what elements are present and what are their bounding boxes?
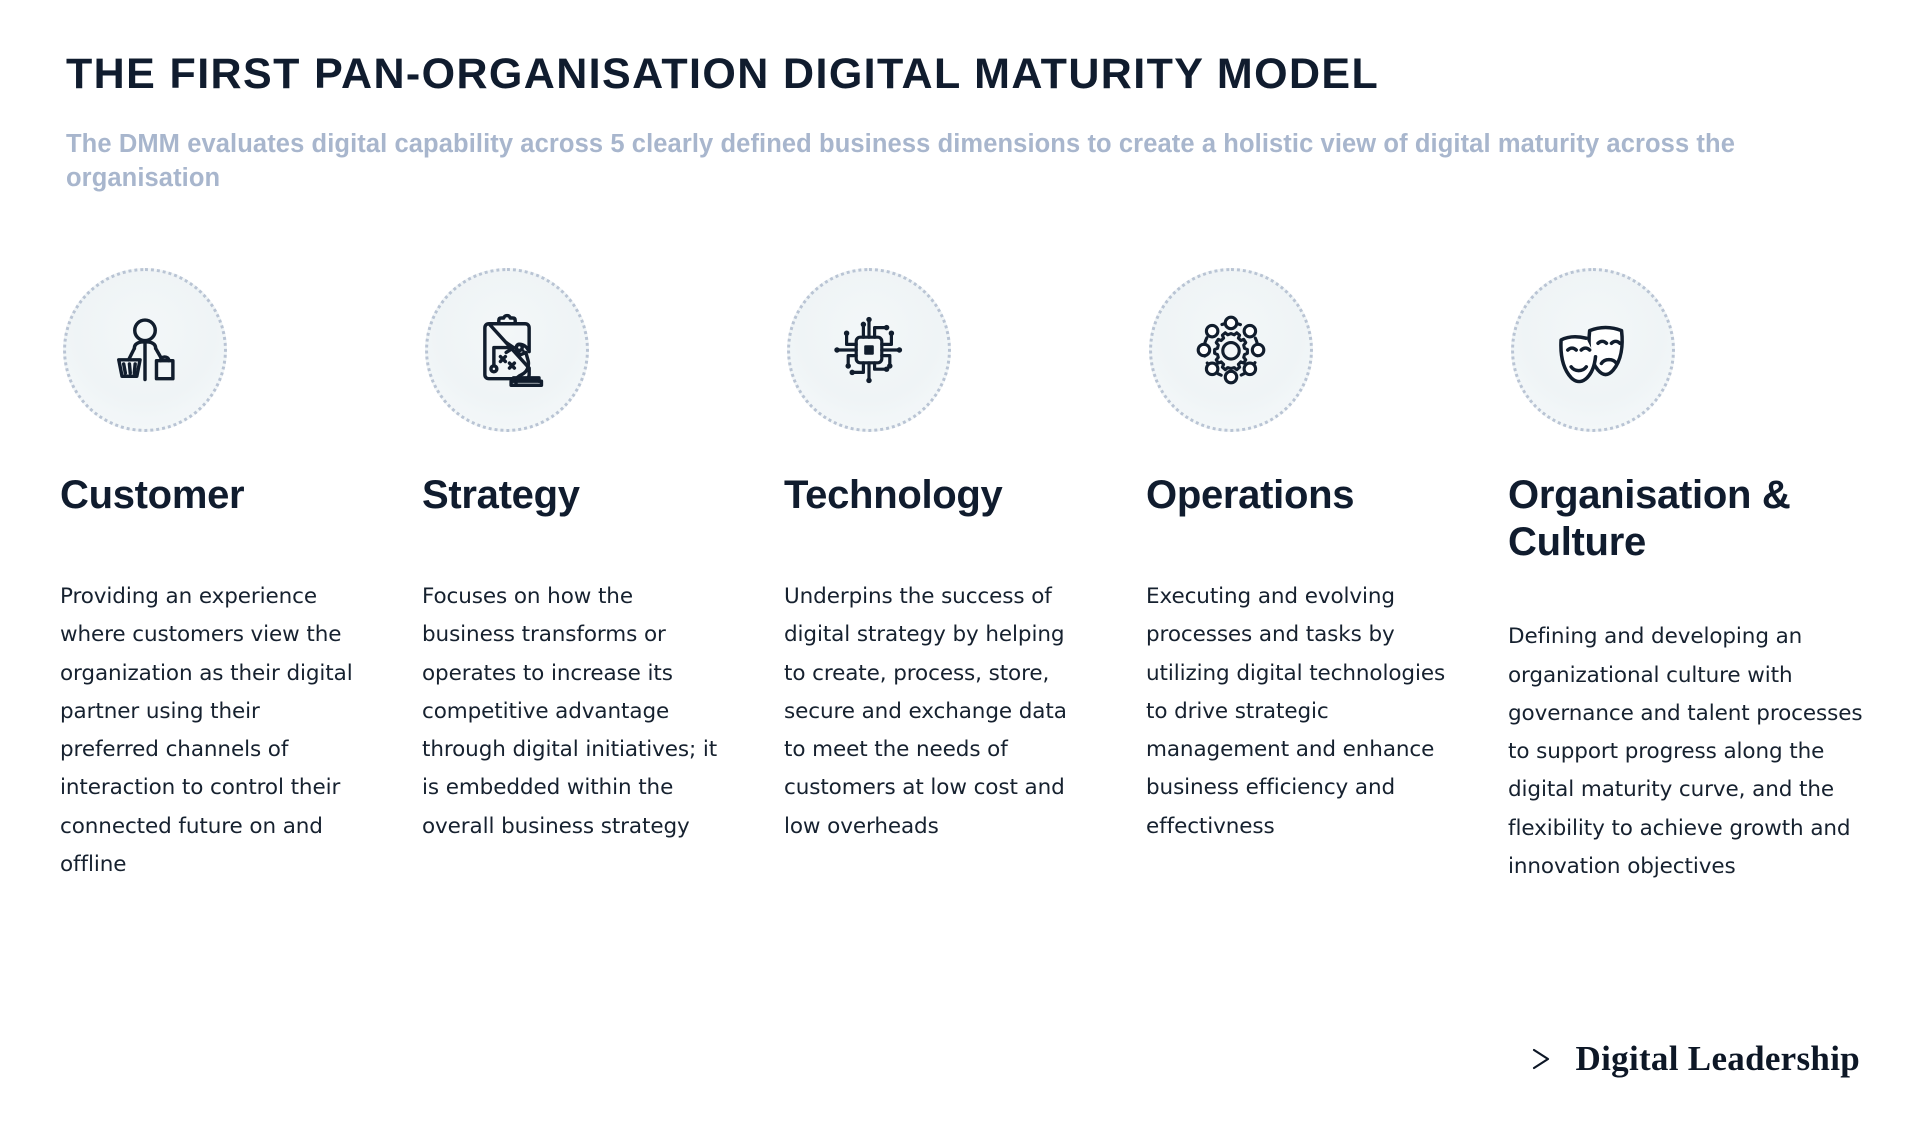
dimension-column-strategy: Strategy Focuses on how the business tra… <box>422 268 784 846</box>
dimension-heading: Organisation & Culture <box>1508 472 1870 566</box>
dimension-heading: Operations <box>1146 472 1446 526</box>
dimension-description: Providing an experience where customers … <box>60 578 360 884</box>
header: THE FIRST PAN-ORGANISATION DIGITAL MATUR… <box>66 50 1866 196</box>
infographic-page: THE FIRST PAN-ORGANISATION DIGITAL MATUR… <box>0 0 1920 1131</box>
gear-network-icon <box>1190 309 1272 391</box>
dimension-icon-circle <box>1149 268 1313 432</box>
dimension-icon-circle <box>63 268 227 432</box>
dimension-description: Underpins the success of digital strateg… <box>784 578 1084 846</box>
dimension-column-operations: Operations Executing and evolving proces… <box>1146 268 1508 846</box>
dimension-columns: Customer Providing an experience where c… <box>60 268 1870 886</box>
dimension-icon-circle <box>787 268 951 432</box>
brand-logo: Digital Leadership <box>1524 1039 1860 1079</box>
dimension-icon-circle <box>425 268 589 432</box>
dimension-icon-circle <box>1511 268 1675 432</box>
page-title: THE FIRST PAN-ORGANISATION DIGITAL MATUR… <box>66 50 1866 99</box>
page-subtitle: The DMM evaluates digital capability acr… <box>66 128 1826 195</box>
strategy-clipboard-chess-knight-icon <box>466 309 548 391</box>
brand-logo-text: Digital Leadership <box>1576 1039 1860 1079</box>
shopper-basket-icon <box>104 309 186 391</box>
dimension-description: Focuses on how the business transforms o… <box>422 578 722 846</box>
microchip-circuit-icon <box>829 310 909 390</box>
dimension-column-customer: Customer Providing an experience where c… <box>60 268 422 884</box>
dimension-description: Defining and developing an organizationa… <box>1508 618 1870 886</box>
chevron-right-icon <box>1524 1042 1558 1076</box>
dimension-description: Executing and evolving processes and tas… <box>1146 578 1446 846</box>
dimension-heading: Strategy <box>422 472 722 526</box>
theatre-masks-icon <box>1551 308 1635 392</box>
dimension-column-technology: Technology Underpins the success of digi… <box>784 268 1146 846</box>
dimension-heading: Technology <box>784 472 1084 526</box>
dimension-column-organisation-culture: Organisation & Culture Defining and deve… <box>1508 268 1870 886</box>
dimension-heading: Customer <box>60 472 360 526</box>
